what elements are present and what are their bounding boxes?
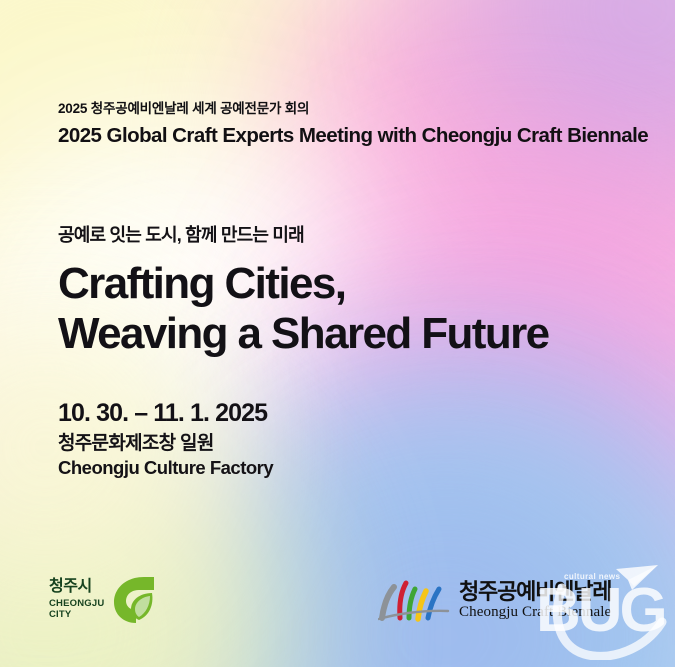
header-english-line: 2025 Global Craft Experts Meeting with C…	[58, 124, 648, 149]
page-title: Crafting Cities, Weaving a Shared Future	[58, 259, 549, 358]
title-block: 공예로 잇는 도시, 함께 만드는 미래 Crafting Cities, We…	[58, 224, 549, 358]
cheongju-city-logo: 청주시 CHEONGJU CITY	[49, 575, 157, 625]
event-venue-korean: 청주문화제조창 일원	[58, 432, 273, 456]
event-date: 10. 30. – 11. 1. 2025	[58, 398, 273, 428]
biennale-logo-korean: 청주공예비엔날레	[459, 580, 611, 603]
cheongju-city-leaf-icon	[111, 575, 157, 625]
subtitle-korean: 공예로 잇는 도시, 함께 만드는 미래	[58, 224, 549, 247]
city-logo-text: 청주시 CHEONGJU CITY	[49, 579, 104, 621]
title-line-2: Weaving a Shared Future	[58, 309, 549, 358]
biennale-logo-text: 청주공예비엔날레 Cheongju Craft Biennale	[459, 580, 611, 621]
watermark-paper-plane-icon	[614, 564, 660, 592]
city-logo-korean: 청주시	[49, 579, 92, 596]
event-venue-english: Cheongju Culture Factory	[58, 456, 273, 479]
biennale-brushstroke-icon	[378, 580, 450, 622]
poster-canvas: 2025 청주공예비엔날레 세계 공예전문가 회의 2025 Global Cr…	[0, 0, 675, 667]
title-line-1: Crafting Cities,	[58, 259, 549, 308]
city-logo-english-line2: CITY	[49, 610, 71, 621]
cheongju-craft-biennale-logo: 청주공예비엔날레 Cheongju Craft Biennale	[378, 580, 611, 622]
header-korean-line: 2025 청주공예비엔날레 세계 공예전문가 회의	[58, 100, 648, 119]
event-info-block: 10. 30. – 11. 1. 2025 청주문화제조창 일원 Cheongj…	[58, 398, 273, 479]
biennale-logo-english: Cheongju Craft Biennale	[459, 604, 611, 621]
poster-content: 2025 청주공예비엔날레 세계 공예전문가 회의 2025 Global Cr…	[0, 0, 675, 667]
event-header: 2025 청주공예비엔날레 세계 공예전문가 회의 2025 Global Cr…	[58, 100, 648, 148]
